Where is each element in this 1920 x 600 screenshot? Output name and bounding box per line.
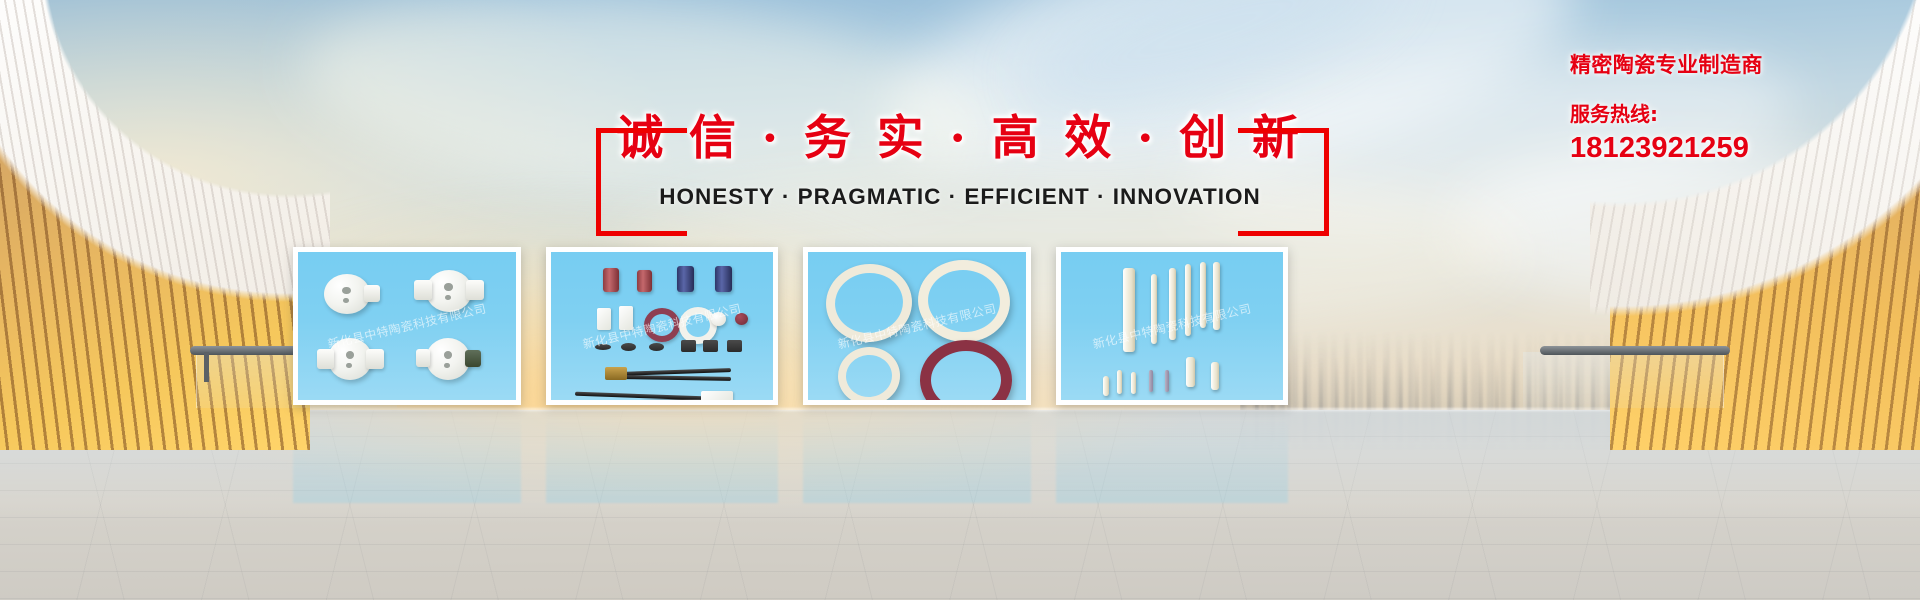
panel-reflections (293, 408, 1633, 503)
contact-block: 精密陶瓷专业制造商 服务热线: 18123921259 (1570, 52, 1900, 166)
ceramic-pin-thin (1149, 370, 1153, 392)
metal-clip (681, 340, 696, 352)
ceramic-rod (1151, 274, 1157, 344)
ivory-ceramic-ring-small (836, 345, 902, 400)
ivory-ceramic-ring-large (822, 260, 916, 347)
metal-contact (649, 343, 664, 351)
holder-tab (317, 349, 334, 369)
panel-reflection (546, 408, 778, 503)
panel-image-area: 新化县中特陶瓷科技有限公司 (551, 252, 773, 400)
ceramic-rod-large (1123, 268, 1135, 352)
ceramic-plate (619, 306, 633, 330)
red-ceramic-tube (637, 270, 652, 292)
hotline-label: 服务热线: (1570, 79, 1900, 126)
holder-tab (416, 349, 430, 367)
ceramic-rod (1200, 262, 1206, 328)
ceramic-rod (1213, 262, 1220, 330)
ceramic-rod (1185, 264, 1191, 336)
ceramic-plate (597, 308, 611, 330)
ceramic-pin (1186, 357, 1195, 387)
holder-tab (366, 349, 384, 369)
maroon-ceramic-ring (920, 340, 1012, 400)
ceramic-pin-thin (1103, 376, 1109, 396)
metal-clip (703, 340, 718, 352)
panel-reflection (1056, 408, 1288, 503)
panel-image-area: 新化县中特陶瓷科技有限公司 (808, 252, 1026, 400)
black-wire (621, 375, 731, 381)
metal-contact (595, 344, 611, 350)
product-panel-ceramic-rings[interactable]: 新化县中特陶瓷科技有限公司 (803, 247, 1031, 405)
red-ceramic-ring (644, 308, 680, 342)
ceramic-pin-thin (1131, 372, 1136, 394)
red-ceramic-bushing (735, 313, 748, 325)
company-tagline: 精密陶瓷专业制造商 (1570, 52, 1900, 79)
panel-reflection (803, 408, 1031, 503)
lamp-holder-part (426, 338, 470, 380)
ivory-ceramic-ring-large (915, 256, 1014, 346)
bracket-right-decoration (1238, 128, 1329, 236)
holder-contact-pin (465, 350, 481, 367)
left-handrail-post (204, 352, 209, 382)
ceramic-rod (1169, 268, 1176, 340)
product-panel-ceramic-rods[interactable]: 新化县中特陶瓷科技有限公司 (1056, 247, 1288, 405)
blue-ceramic-tube (715, 266, 732, 292)
panel-image-area: 新化县中特陶瓷科技有限公司 (298, 252, 516, 400)
bracket-left-decoration (596, 128, 687, 236)
metal-contact (621, 343, 636, 351)
ceramic-pin-thin (1117, 370, 1122, 394)
blue-ceramic-tube (677, 266, 694, 292)
black-wire (575, 399, 705, 400)
panel-image-area: 新化县中特陶瓷科技有限公司 (1061, 252, 1283, 400)
slogan-english: HONESTY · PRAGMATIC · EFFICIENT · INNOVA… (0, 162, 1920, 210)
hero-banner: 诚 信 · 务 实 · 高 效 · 创 新 HONESTY · PRAGMATI… (0, 0, 1920, 600)
holder-tab (414, 280, 432, 300)
product-panel-ceramic-lamp-holders[interactable]: 新化县中特陶瓷科技有限公司 (293, 247, 521, 405)
brass-terminal (605, 367, 627, 380)
holder-tab (466, 280, 484, 300)
white-connector-block (701, 391, 733, 400)
metal-clip (727, 340, 742, 352)
white-ceramic-ring (679, 307, 717, 344)
product-panel-row: 新化县中特陶瓷科技有限公司 (293, 247, 1633, 405)
ceramic-pin (1211, 362, 1219, 390)
product-panel-ceramic-connectors[interactable]: 新化县中特陶瓷科技有限公司 (546, 247, 778, 405)
red-ceramic-tube (603, 268, 619, 292)
hotline-phone-number[interactable]: 18123921259 (1570, 126, 1900, 165)
ceramic-pin-thin (1165, 370, 1169, 392)
holder-tab (364, 285, 380, 302)
white-ceramic-bushing (711, 312, 726, 326)
